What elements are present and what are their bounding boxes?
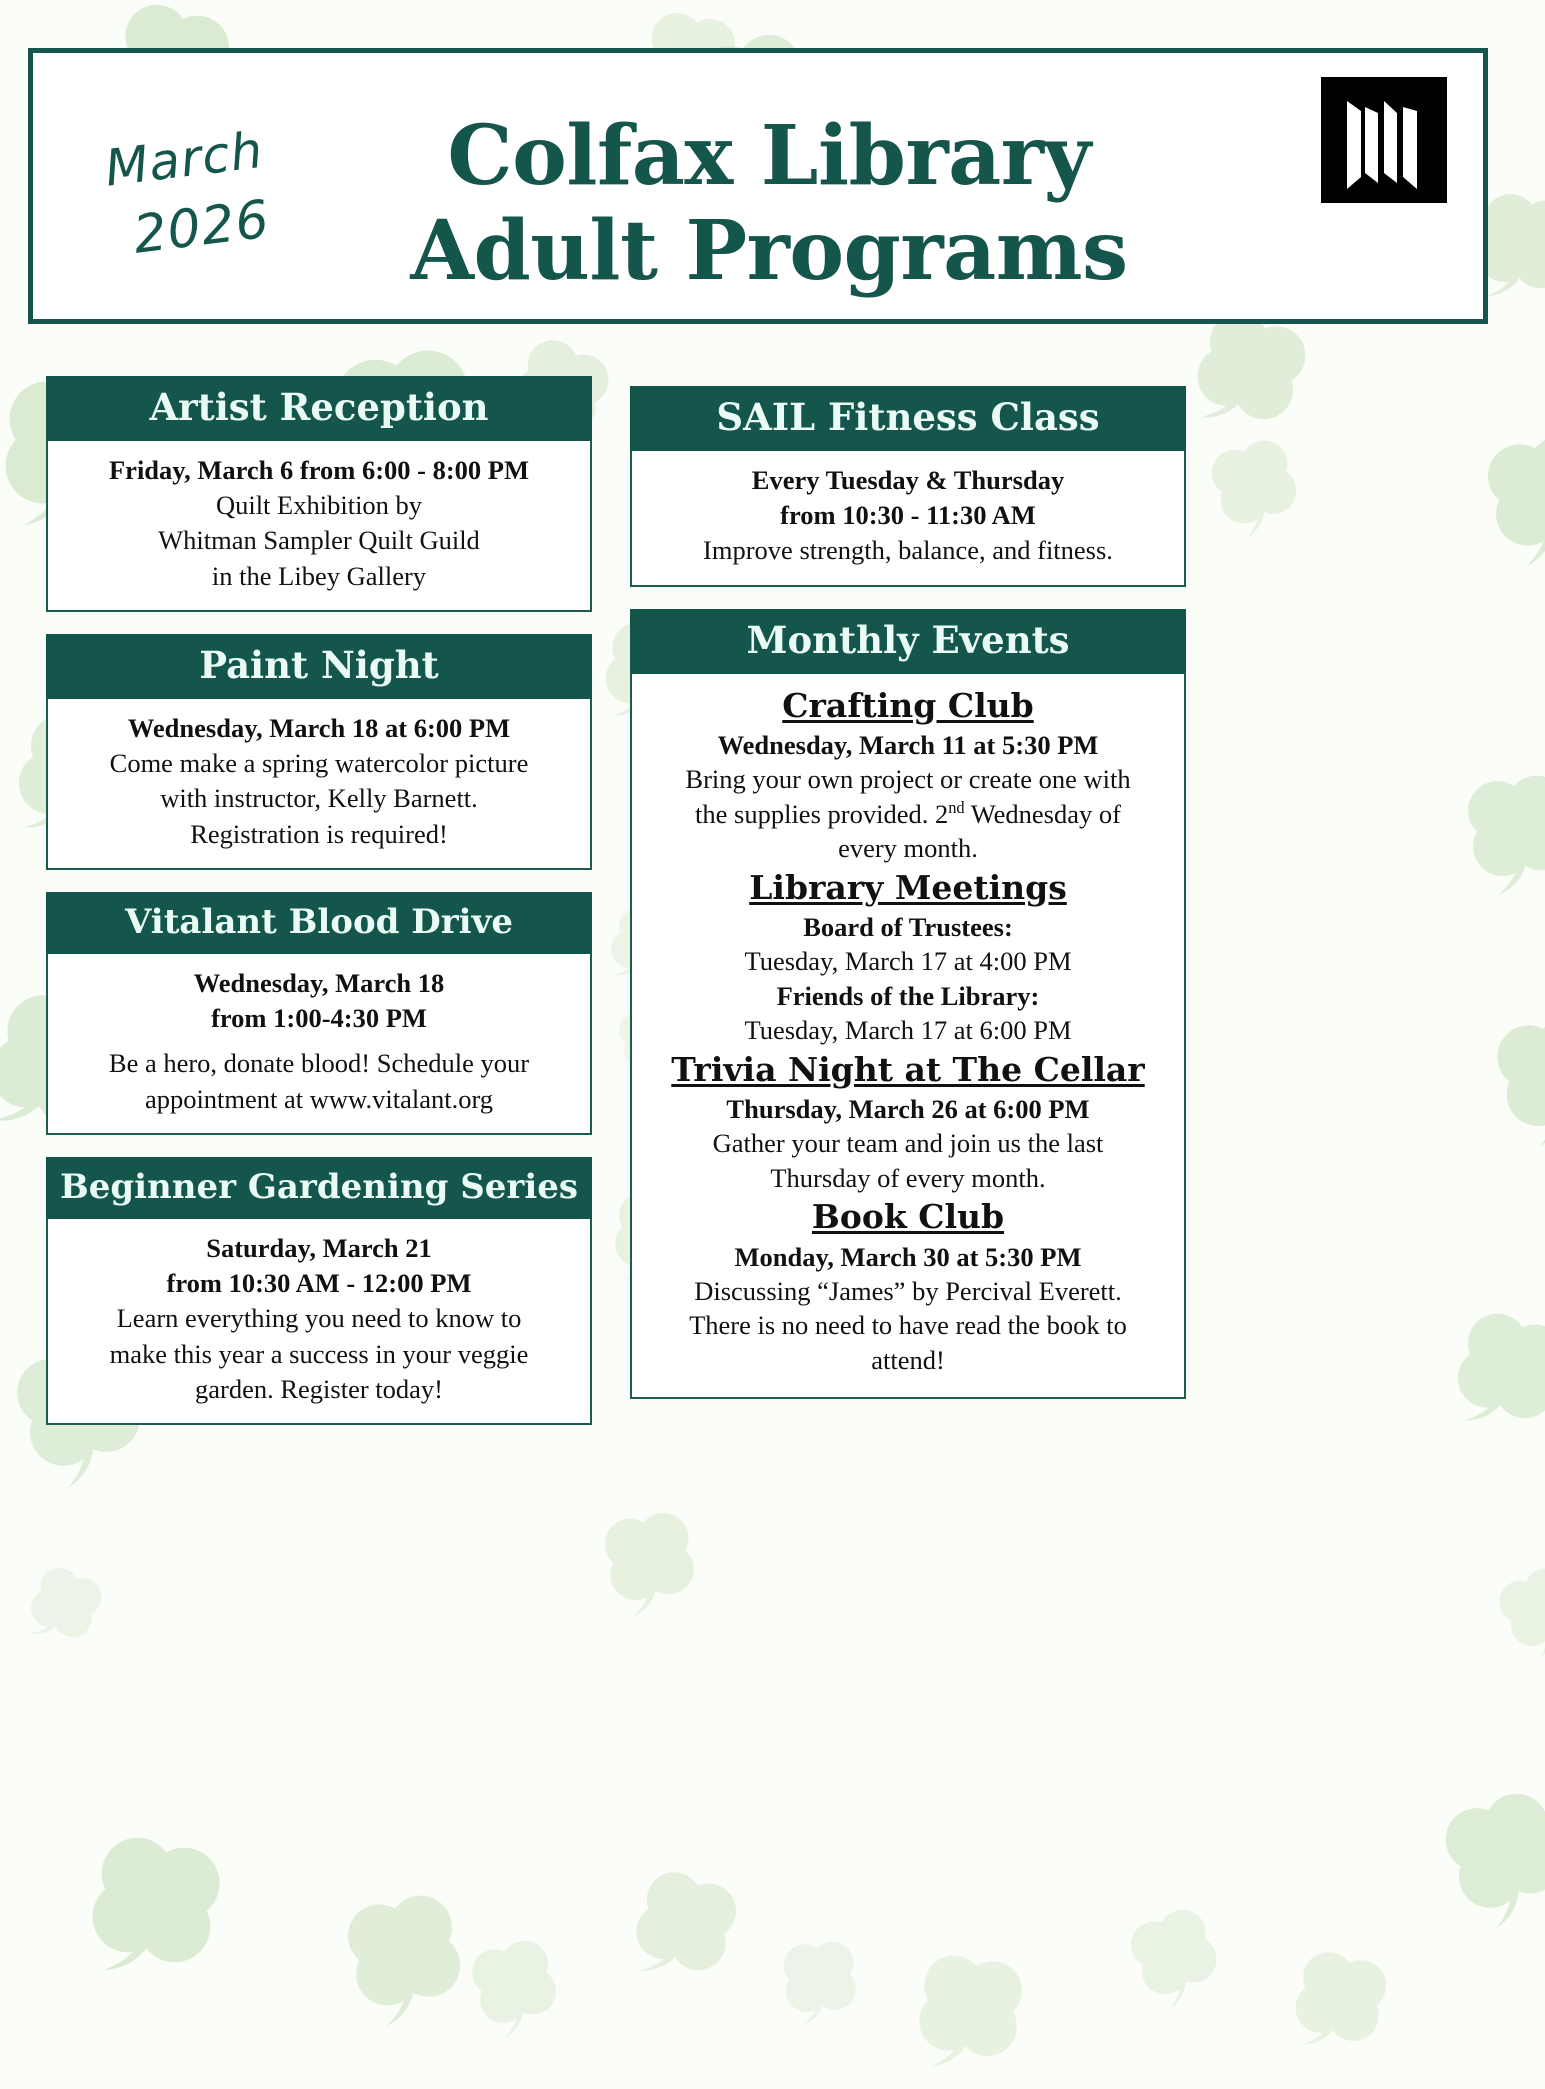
monthly-event-text-line: There is no need to have read the book t…: [648, 1308, 1168, 1342]
monthly-event-library-meetings: Library MeetingsBoard of Trustees:Tuesda…: [648, 868, 1168, 1048]
card-text-line: Whitman Sampler Quilt Guild: [62, 523, 576, 558]
monthly-event-text-line: Board of Trustees:: [648, 910, 1168, 944]
monthly-event-text-line: Discussing “James” by Percival Everett.: [648, 1274, 1168, 1308]
spacer: [62, 1036, 576, 1046]
left-column: Artist ReceptionFriday, March 6 from 6:0…: [46, 376, 592, 1447]
monthly-event-text-line: Gather your team and join us the last: [648, 1126, 1168, 1160]
card-text-line: from 1:00-4:30 PM: [62, 1001, 576, 1036]
card-body-beginner-gardening-series: Saturday, March 21from 10:30 AM - 12:00 …: [46, 1219, 592, 1425]
card-title-monthly-events: Monthly Events: [630, 609, 1186, 674]
event-card-artist-reception: Artist ReceptionFriday, March 6 from 6:0…: [46, 376, 592, 612]
monthly-event-book-club: Book ClubMonday, March 30 at 5:30 PMDisc…: [648, 1197, 1168, 1377]
card-body-sail-fitness-class: Every Tuesday & Thursdayfrom 10:30 - 11:…: [630, 451, 1186, 587]
card-title-vitalant-blood-drive: Vitalant Blood Drive: [46, 892, 592, 954]
monthly-event-text-line: every month.: [648, 831, 1168, 865]
card-text-line: Wednesday, March 18: [62, 966, 576, 1001]
monthly-event-text-line: Wednesday, March 11 at 5:30 PM: [648, 728, 1168, 762]
monthly-event-title-crafting-club: Crafting Club: [648, 686, 1168, 726]
card-text-line: Come make a spring watercolor picture: [62, 746, 576, 781]
card-text-line: Registration is required!: [62, 817, 576, 852]
monthly-event-trivia-night-at-the-cellar: Trivia Night at The CellarThursday, Marc…: [648, 1050, 1168, 1196]
event-card-beginner-gardening-series: Beginner Gardening SeriesSaturday, March…: [46, 1157, 592, 1425]
monthly-event-text-line: Tuesday, March 17 at 4:00 PM: [648, 944, 1168, 978]
monthly-event-text-line: Thursday of every month.: [648, 1161, 1168, 1195]
flyer-page: March 2026 Colfax Library Adult Programs…: [0, 0, 1545, 1999]
event-card-vitalant-blood-drive: Vitalant Blood DriveWednesday, March 18f…: [46, 892, 592, 1135]
card-text-line: Saturday, March 21: [62, 1231, 576, 1266]
card-title-sail-fitness-class: SAIL Fitness Class: [630, 386, 1186, 451]
card-title-paint-night: Paint Night: [46, 634, 592, 699]
monthly-event-text-line: Monday, March 30 at 5:30 PM: [648, 1240, 1168, 1274]
event-card-sail-fitness-class: SAIL Fitness ClassEvery Tuesday & Thursd…: [630, 386, 1186, 587]
card-text-line: make this year a success in your veggie: [62, 1337, 576, 1372]
card-text-line: Be a hero, donate blood! Schedule your: [62, 1046, 576, 1081]
card-text-line: from 10:30 AM - 12:00 PM: [62, 1266, 576, 1301]
card-text-line: garden. Register today!: [62, 1372, 576, 1407]
monthly-event-title-book-club: Book Club: [648, 1197, 1168, 1237]
flyer-header: March 2026 Colfax Library Adult Programs: [28, 48, 1488, 324]
card-title-artist-reception: Artist Reception: [46, 376, 592, 441]
card-text-line: with instructor, Kelly Barnett.: [62, 781, 576, 816]
title-line-2: Adult Programs: [309, 204, 1229, 299]
card-body-monthly-events: Crafting ClubWednesday, March 11 at 5:30…: [630, 674, 1186, 1400]
month-label: March: [102, 121, 266, 198]
card-text-line: in the Libey Gallery: [62, 559, 576, 594]
monthly-event-text-line: Friends of the Library:: [648, 979, 1168, 1013]
monthly-event-text-line: attend!: [648, 1343, 1168, 1377]
event-card-paint-night: Paint NightWednesday, March 18 at 6:00 P…: [46, 634, 592, 870]
title-line-1: Colfax Library: [309, 109, 1229, 204]
monthly-event-crafting-club: Crafting ClubWednesday, March 11 at 5:30…: [648, 686, 1168, 866]
library-logo: [1321, 77, 1447, 203]
card-text-line: Wednesday, March 18 at 6:00 PM: [62, 711, 576, 746]
card-body-artist-reception: Friday, March 6 from 6:00 - 8:00 PMQuilt…: [46, 441, 592, 612]
right-column: SAIL Fitness ClassEvery Tuesday & Thursd…: [630, 386, 1186, 1421]
monthly-event-title-trivia-night-at-the-cellar: Trivia Night at The Cellar: [648, 1050, 1168, 1090]
card-text-line: Friday, March 6 from 6:00 - 8:00 PM: [62, 453, 576, 488]
monthly-event-text-line: Thursday, March 26 at 6:00 PM: [648, 1092, 1168, 1126]
card-body-vitalant-blood-drive: Wednesday, March 18from 1:00-4:30 PMBe a…: [46, 954, 592, 1135]
event-card-monthly-events: Monthly EventsCrafting ClubWednesday, Ma…: [630, 609, 1186, 1400]
card-text-line: from 10:30 - 11:30 AM: [646, 498, 1170, 533]
card-title-beginner-gardening-series: Beginner Gardening Series: [46, 1157, 592, 1219]
page-title: Colfax Library Adult Programs: [309, 109, 1229, 299]
monthly-event-text-line: the supplies provided. 2nd Wednesday of: [648, 797, 1168, 831]
card-text-line: Learn everything you need to know to: [62, 1301, 576, 1336]
card-text-line: Improve strength, balance, and fitness.: [646, 533, 1170, 568]
monthly-event-title-library-meetings: Library Meetings: [648, 868, 1168, 908]
monthly-event-text-line: Tuesday, March 17 at 6:00 PM: [648, 1013, 1168, 1047]
year-label: 2026: [100, 183, 304, 274]
card-body-paint-night: Wednesday, March 18 at 6:00 PMCome make …: [46, 699, 592, 870]
card-text-line: appointment at www.vitalant.org: [62, 1082, 576, 1117]
card-text-line: Every Tuesday & Thursday: [646, 463, 1170, 498]
monthly-event-text-line: Bring your own project or create one wit…: [648, 762, 1168, 796]
card-text-line: Quilt Exhibition by: [62, 488, 576, 523]
month-year-label: March 2026: [73, 114, 303, 276]
